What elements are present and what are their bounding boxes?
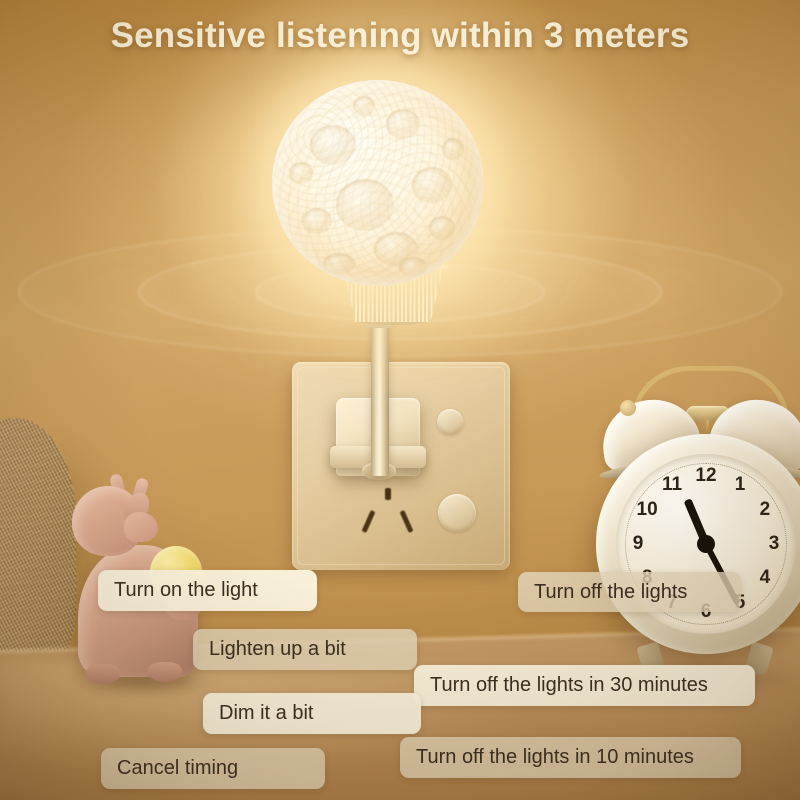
product-scene: 121234567891011 Sensitive listening with… bbox=[0, 0, 800, 800]
scene-vignette bbox=[0, 0, 800, 800]
